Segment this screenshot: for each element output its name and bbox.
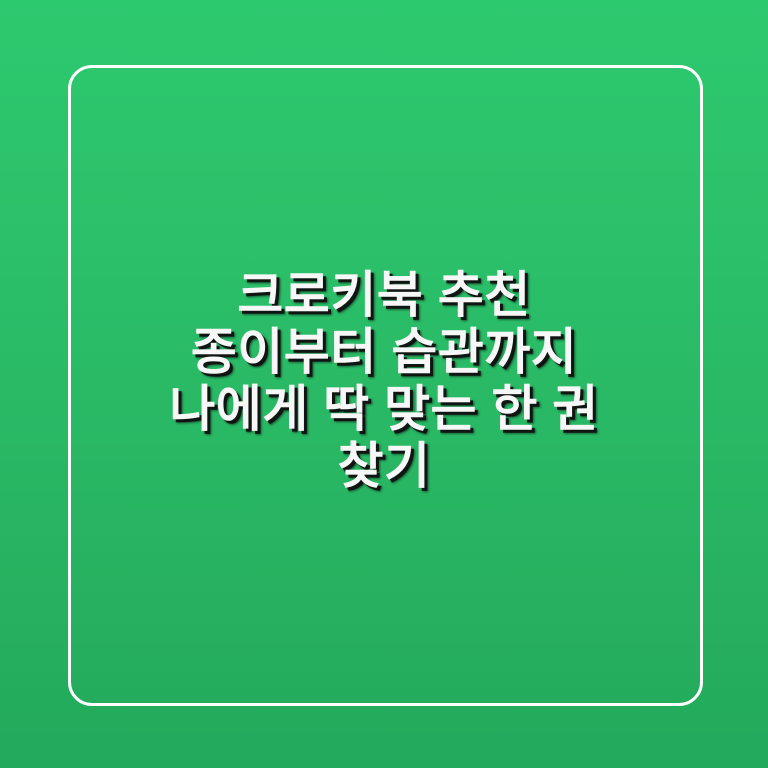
headline-line-4: 찾기 bbox=[338, 438, 431, 495]
poster-canvas: 크로키북 추천 종이부터 습관까지 나에게 딱 맞는 한 권 찾기 bbox=[0, 0, 768, 768]
headline-line-3: 나에게 딱 맞는 한 권 bbox=[169, 381, 599, 438]
headline-line-1: 크로키북 추천 bbox=[237, 267, 530, 324]
headline-line-2: 종이부터 습관까지 bbox=[191, 324, 577, 381]
headline-text-block: 크로키북 추천 종이부터 습관까지 나에게 딱 맞는 한 권 찾기 bbox=[0, 0, 768, 768]
